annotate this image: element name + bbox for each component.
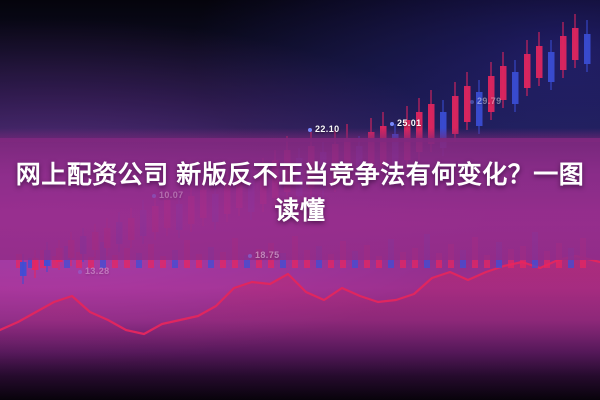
candle-body [488,76,495,112]
price-tag-value: 29.79 [477,96,502,106]
price-tag-marker-icon [470,100,474,104]
price-tag-value: 18.75 [255,250,280,260]
price-tag: 13.28 [78,266,110,276]
candle-body [500,66,507,100]
candle-body [512,72,519,104]
candle-body [536,46,543,78]
banner-image: 10.0722.1025.0129.7918.7513.28 网上配资公司 新版… [0,0,600,400]
price-tag-marker-icon [78,270,82,274]
candle-body [572,28,579,60]
candle-body [524,54,531,88]
price-tag: 18.75 [248,250,280,260]
price-tag-marker-icon [390,122,394,126]
price-tag: 22.10 [308,124,340,134]
price-tag: 25.01 [390,118,422,128]
candle-body [560,36,567,70]
price-tag-value: 13.28 [85,266,110,276]
price-tag-marker-icon [248,254,252,258]
price-tag-value: 25.01 [397,118,422,128]
price-tag-marker-icon [308,128,312,132]
price-tag: 29.79 [470,96,502,106]
candle-body [20,262,27,276]
candle-body [584,34,591,64]
headline-text: 网上配资公司 新版反不正当竞争法有何变化？一图读懂 [0,158,600,229]
price-tag-value: 22.10 [315,124,340,134]
candle-body [548,52,555,82]
